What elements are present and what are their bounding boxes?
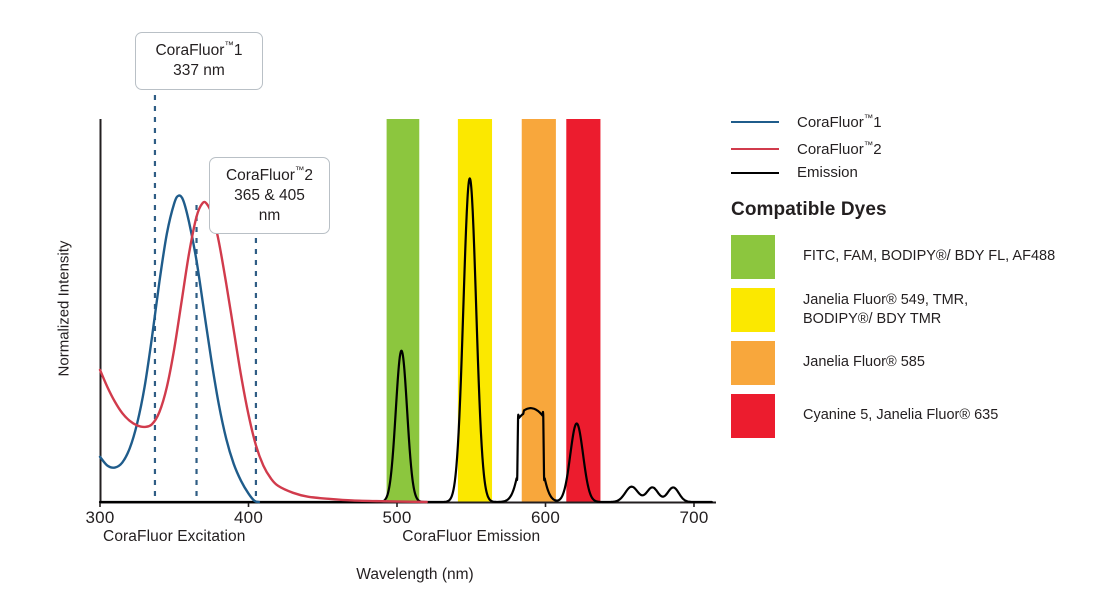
dye-item-green: FITC, FAM, BODIPY®/ BDY FL, AF488 (731, 235, 1055, 279)
dye-label-yellow: Janelia Fluor® 549, TMR,BODIPY®/ BDY TMR (803, 291, 968, 330)
legend-label-emission: Emission (797, 164, 858, 181)
dye-item-orange: Janelia Fluor® 585 (731, 341, 925, 385)
trademark-icon: ™ (864, 113, 874, 124)
dye-item-yellow: Janelia Fluor® 549, TMR,BODIPY®/ BDY TMR (731, 288, 968, 332)
legend-item-emission: Emission (731, 164, 858, 181)
y-axis-label: Normalized Intensity (56, 219, 73, 399)
chart-plot-area: CoraFluor™1 337 nm CoraFluor™2 365 & 405… (0, 0, 730, 612)
dye-color-swatch-green (731, 235, 775, 279)
dye-color-swatch-orange (731, 341, 775, 385)
x-tick-label-500: 500 (367, 508, 427, 528)
dye-label-red: Cyanine 5, Janelia Fluor® 635 (803, 406, 998, 425)
legend-item-corafluor1: CoraFluor™1 (731, 113, 882, 131)
emission-band-group (387, 119, 601, 502)
legend-panel: CoraFluor™1 CoraFluor™2 Emission Compati… (731, 0, 1110, 612)
dye-color-swatch-yellow (731, 288, 775, 332)
legend-line-swatch-corafluor2 (731, 148, 779, 150)
dye-label-orange: Janelia Fluor® 585 (803, 353, 925, 372)
callout-corafluor2: CoraFluor™2 365 & 405 nm (209, 157, 330, 234)
legend-label-corafluor1: CoraFluor™1 (797, 113, 882, 131)
compatible-dyes-title: Compatible Dyes (731, 199, 887, 221)
axis-section-emission: CoraFluor Emission (371, 528, 571, 546)
x-tick-label-600: 600 (516, 508, 576, 528)
callout-corafluor1-value: 337 nm (173, 62, 225, 79)
x-tick-label-400: 400 (219, 508, 279, 528)
trademark-icon: ™ (295, 165, 305, 176)
emission-band-0 (387, 119, 420, 502)
dye-item-red: Cyanine 5, Janelia Fluor® 635 (731, 394, 998, 438)
callout-corafluor1-title: CoraFluor™1 (155, 42, 242, 59)
callout-corafluor1: CoraFluor™1 337 nm (135, 32, 263, 90)
callout-corafluor2-title: CoraFluor™2 (226, 167, 313, 184)
legend-line-swatch-emission (731, 172, 779, 174)
legend-item-corafluor2: CoraFluor™2 (731, 140, 882, 158)
x-axis-title: Wavelength (nm) (285, 566, 545, 584)
legend-line-swatch-corafluor1 (731, 121, 779, 123)
dye-color-swatch-red (731, 394, 775, 438)
trademark-icon: ™ (864, 140, 874, 151)
corafluor1-excitation-curve (100, 195, 259, 502)
figure-root: CoraFluor™1 337 nm CoraFluor™2 365 & 405… (0, 0, 1110, 612)
trademark-icon: ™ (224, 40, 234, 51)
x-tick-label-700: 700 (664, 508, 724, 528)
emission-band-2 (522, 119, 556, 502)
x-tick-label-300: 300 (70, 508, 130, 528)
axis-section-excitation: CoraFluor Excitation (74, 528, 274, 546)
legend-label-corafluor2: CoraFluor™2 (797, 140, 882, 158)
callout-corafluor2-value: 365 & 405 nm (234, 187, 305, 224)
dye-label-green: FITC, FAM, BODIPY®/ BDY FL, AF488 (803, 247, 1055, 266)
